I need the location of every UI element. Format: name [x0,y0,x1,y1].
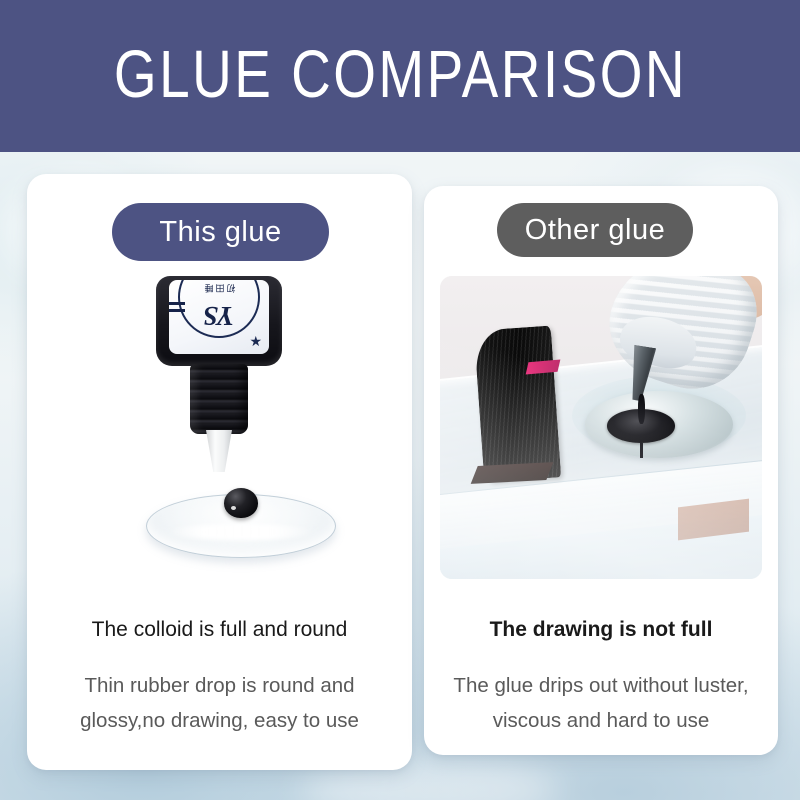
bottle-label-cn-text: 初田睡 [169,282,269,295]
bottle-body: 初田睡 YS ★ [156,276,282,366]
badge-this-glue: This glue [112,203,329,261]
photo-glue-string [638,394,645,424]
page-title: GLUE COMPARISON [113,41,686,112]
bottle-ribbed-cap [190,364,248,434]
badge-this-glue-label: This glue [159,216,281,249]
headline-other-glue: The drawing is not full [424,617,778,643]
body-this-glue: Thin rubber drop is round and glossy,no … [47,668,392,739]
photo-lash-strip [473,325,561,482]
star-icon: ★ [249,334,262,348]
bottle-label-logo: YS [169,300,269,331]
header-banner: GLUE COMPARISON [0,0,800,152]
headline-this-glue: The colloid is full and round [27,617,412,643]
badge-other-glue-label: Other glue [525,214,665,247]
other-glue-photo [440,276,762,579]
photo-glue-drip [640,443,644,458]
glue-droplet [224,488,258,518]
bottle-label: 初田睡 YS ★ [169,280,269,354]
jade-disc-illustration [146,488,336,564]
bottle-nozzle-tip [206,430,232,472]
disc-highlight [166,524,316,540]
comparison-infographic: GLUE COMPARISON This glue 初田睡 YS ★ Other… [0,0,800,800]
glue-bottle-illustration: 初田睡 YS ★ [150,276,290,506]
badge-other-glue: Other glue [497,203,693,257]
body-other-glue: The glue drips out without luster, visco… [432,668,770,739]
